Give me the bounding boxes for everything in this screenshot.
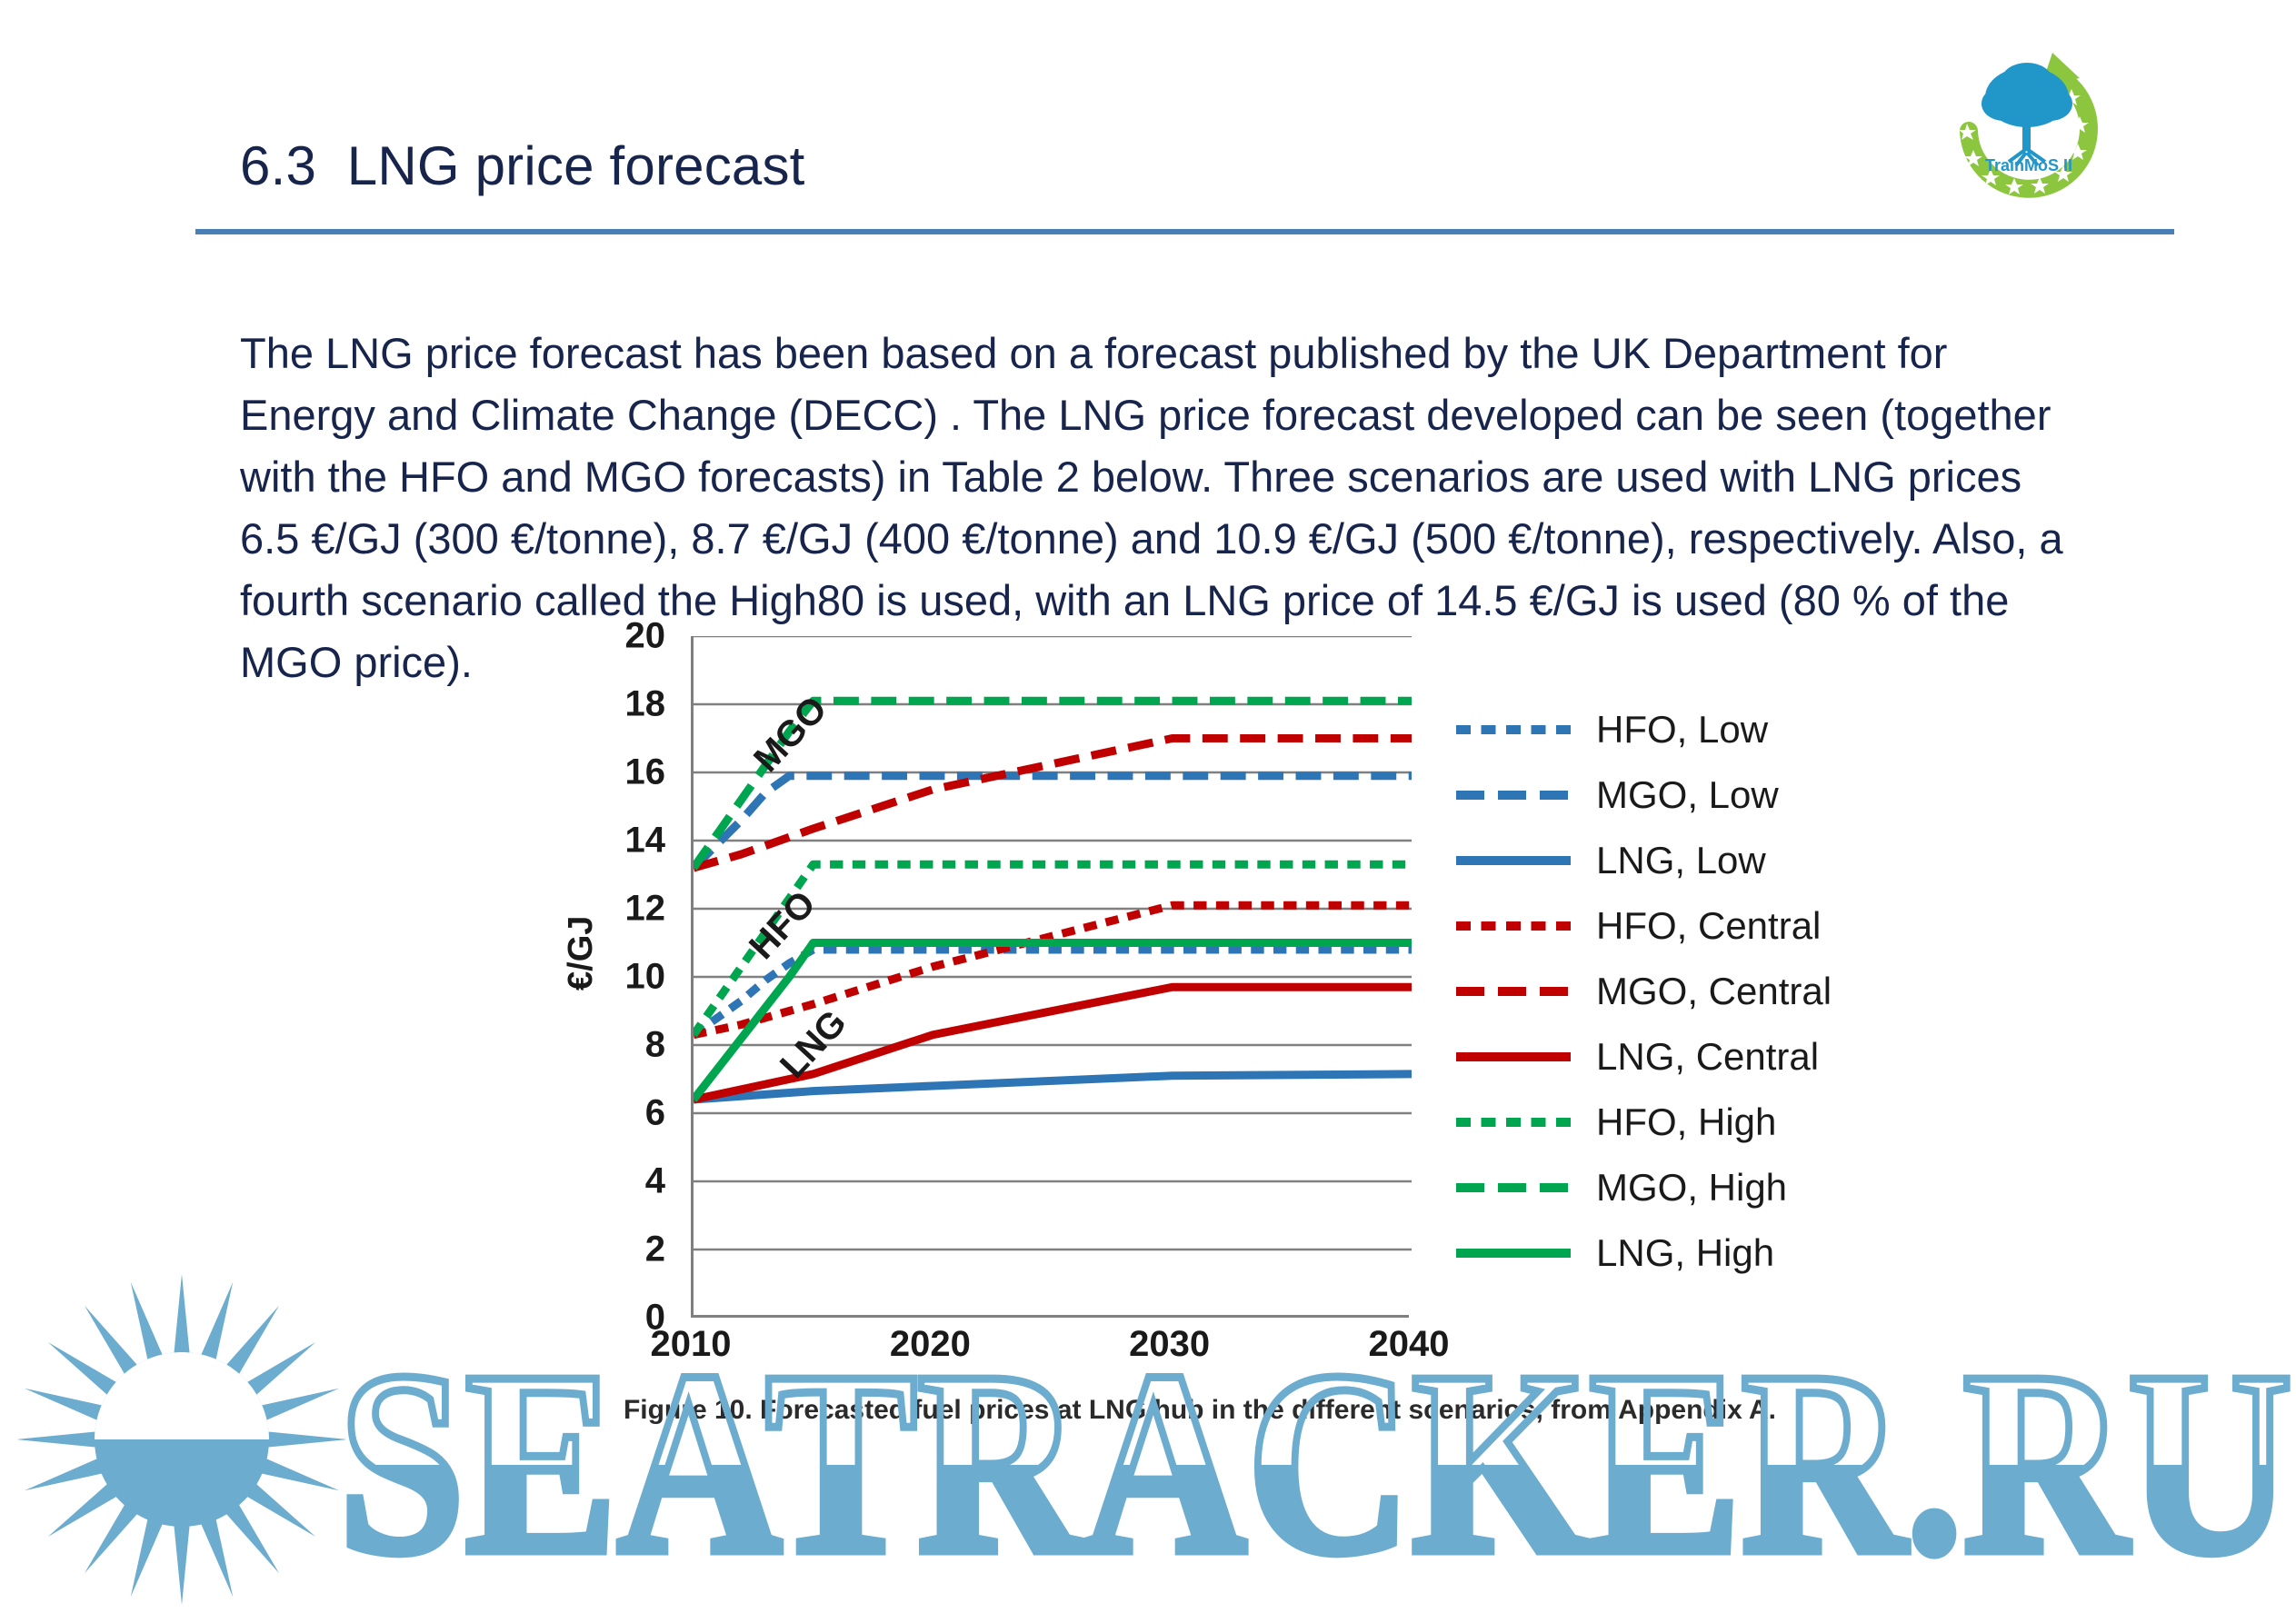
plot-area: MGOHFOLNG	[691, 636, 1409, 1318]
sun-ray	[25, 1458, 105, 1490]
legend-swatch-icon	[1454, 1177, 1572, 1199]
legend-item-hfo-central[interactable]: HFO, Central	[1454, 905, 1909, 947]
legend-swatch-icon	[1454, 784, 1572, 806]
y-tick-14: 14	[582, 821, 665, 861]
legend-label: HFO, High	[1596, 1100, 1776, 1144]
y-tick-2: 2	[582, 1230, 665, 1270]
sun-ray	[48, 1482, 119, 1537]
x-tick-2030: 2030	[1129, 1324, 1210, 1365]
series-line-mgo-central	[694, 739, 1412, 869]
chart-legend: HFO, LowMGO, LowLNG, LowHFO, CentralMGO,…	[1454, 709, 1909, 1309]
fuel-price-chart: €/GJ 02468101214161820 MGOHFOLNG 2010202…	[491, 636, 1909, 1372]
legend-label: HFO, Low	[1596, 708, 1768, 752]
sun-ray	[225, 1306, 279, 1377]
header-divider	[195, 229, 2174, 234]
legend-item-mgo-central[interactable]: MGO, Central	[1454, 971, 1909, 1012]
legend-label: LNG, High	[1596, 1231, 1774, 1275]
sun-ray	[85, 1306, 139, 1377]
y-tick-4: 4	[582, 1161, 665, 1202]
series-line-mgo-low	[694, 776, 1412, 868]
sun-ray	[258, 1458, 339, 1490]
legend-swatch-icon	[1454, 981, 1572, 1002]
legend-item-lng-low[interactable]: LNG, Low	[1454, 840, 1909, 881]
sun-ray	[200, 1282, 233, 1363]
sun-ray	[18, 1431, 98, 1448]
slide-header: 6.3 LNG price forecast	[0, 0, 2296, 245]
sun-ray	[200, 1516, 233, 1597]
legend-item-mgo-low[interactable]: MGO, Low	[1454, 774, 1909, 816]
sunburst-icon	[18, 1270, 345, 1608]
figure-caption: Figure 10. Forecasted fuel prices at LNG…	[491, 1395, 1909, 1426]
legend-label: LNG, Central	[1596, 1035, 1819, 1079]
y-tick-8: 8	[582, 1025, 665, 1066]
sun-ray	[174, 1274, 190, 1356]
sun-ray	[265, 1431, 345, 1448]
sun-ray	[48, 1342, 119, 1397]
sun-ray	[225, 1502, 279, 1573]
legend-label: LNG, Low	[1596, 839, 1766, 882]
legend-item-hfo-high[interactable]: HFO, High	[1454, 1101, 1909, 1143]
legend-swatch-icon	[1454, 719, 1572, 741]
page-title: 6.3 LNG price forecast	[240, 134, 805, 197]
legend-swatch-icon	[1454, 1046, 1572, 1068]
y-tick-10: 10	[582, 957, 665, 998]
legend-item-hfo-low[interactable]: HFO, Low	[1454, 709, 1909, 751]
figure-block: €/GJ 02468101214161820 MGOHFOLNG 2010202…	[491, 636, 1909, 1454]
x-tick-2040: 2040	[1369, 1324, 1450, 1365]
y-tick-18: 18	[582, 684, 665, 725]
legend-label: MGO, Low	[1596, 773, 1779, 817]
legend-swatch-icon	[1454, 1242, 1572, 1264]
sun-ray	[131, 1516, 164, 1597]
legend-item-lng-central[interactable]: LNG, Central	[1454, 1036, 1909, 1078]
legend-label: HFO, Central	[1596, 904, 1821, 948]
trainmos-logo: TrainMoS II	[1947, 47, 2111, 200]
x-tick-2020: 2020	[890, 1324, 971, 1365]
legend-label: MGO, Central	[1596, 970, 1832, 1013]
y-tick-6: 6	[582, 1093, 665, 1134]
y-tick-20: 20	[582, 616, 665, 657]
legend-item-lng-high[interactable]: LNG, High	[1454, 1232, 1909, 1274]
legend-swatch-icon	[1454, 915, 1572, 937]
legend-item-mgo-high[interactable]: MGO, High	[1454, 1167, 1909, 1209]
sun-ray	[245, 1342, 315, 1397]
legend-label: MGO, High	[1596, 1166, 1787, 1210]
sun-ray	[174, 1523, 190, 1605]
sun-ray	[245, 1482, 315, 1537]
x-tick-2010: 2010	[651, 1324, 732, 1365]
sun-ray	[25, 1389, 105, 1421]
sun-ray	[131, 1282, 164, 1363]
y-axis-tick-labels: 02468101214161820	[582, 636, 665, 1327]
sun-ray	[258, 1389, 339, 1421]
y-tick-16: 16	[582, 752, 665, 793]
legend-swatch-icon	[1454, 1111, 1572, 1133]
legend-swatch-icon	[1454, 850, 1572, 871]
y-tick-12: 12	[582, 889, 665, 930]
sun-ray	[85, 1502, 139, 1573]
trainmos-logo-text: TrainMoS II	[1985, 156, 2072, 174]
x-axis-tick-labels: 2010202020302040	[691, 1324, 1409, 1379]
